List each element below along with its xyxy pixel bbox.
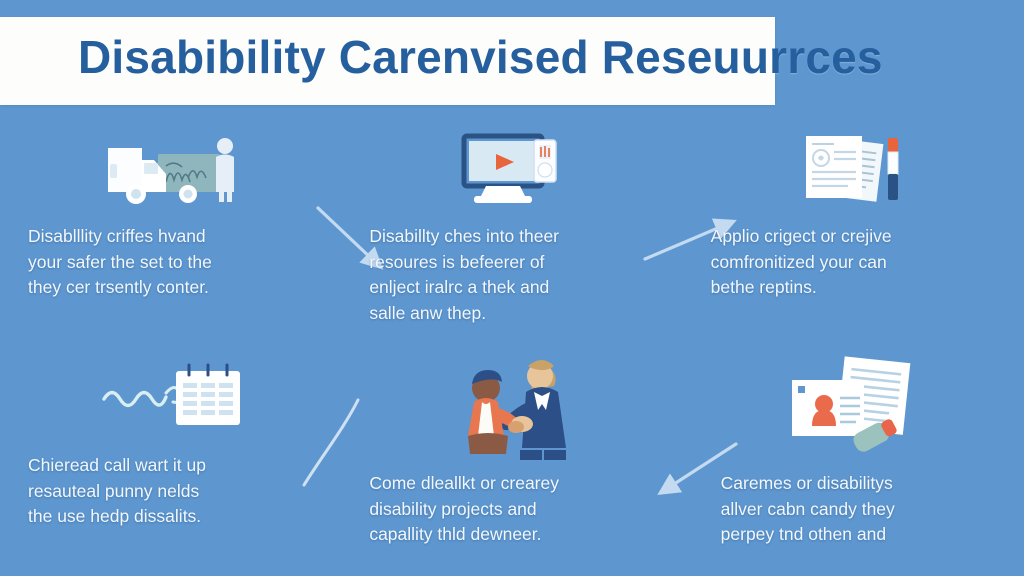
calendar-notepad-with-squiggle-icon [28, 353, 313, 443]
content-grid: Disablllity criffes hvand your safer the… [0, 118, 1024, 576]
info-cell-1: Disablllity criffes hvand your safer the… [0, 118, 341, 347]
info-cell-5: Come dleallkt or crearey disability proj… [341, 347, 682, 576]
id-card-document-icon [711, 353, 996, 461]
two-people-handshake-illustration [369, 353, 654, 461]
page-title: Disabibility Carenvised Reseuurrces [78, 30, 1018, 84]
cell-4-text: Chieread call wart it up resauteal punny… [28, 453, 313, 530]
delivery-truck-with-person-icon [28, 124, 313, 214]
cell-5-text: Come dleallkt or crearey disability proj… [369, 471, 654, 548]
cell-2-text: Disabillty ches into theer resoures is b… [369, 224, 654, 327]
cell-1-text: Disablllity criffes hvand your safer the… [28, 224, 313, 301]
info-cell-6: Caremes or disabilitys allver cabn candy… [683, 347, 1024, 576]
cell-3-text: Applio crigect or crejive comfronitized … [711, 224, 996, 301]
info-cell-2: Disabillty ches into theer resoures is b… [341, 118, 682, 347]
documents-with-pen-icon [711, 124, 996, 214]
info-cell-3: Applio crigect or crejive comfronitized … [683, 118, 1024, 347]
cell-6-text: Caremes or disabilitys allver cabn candy… [711, 471, 996, 548]
infographic-canvas: Disabibility Carenvised Reseuurrces [0, 0, 1024, 576]
desktop-monitor-video-play-icon [369, 124, 654, 214]
info-cell-4: Chieread call wart it up resauteal punny… [0, 347, 341, 576]
